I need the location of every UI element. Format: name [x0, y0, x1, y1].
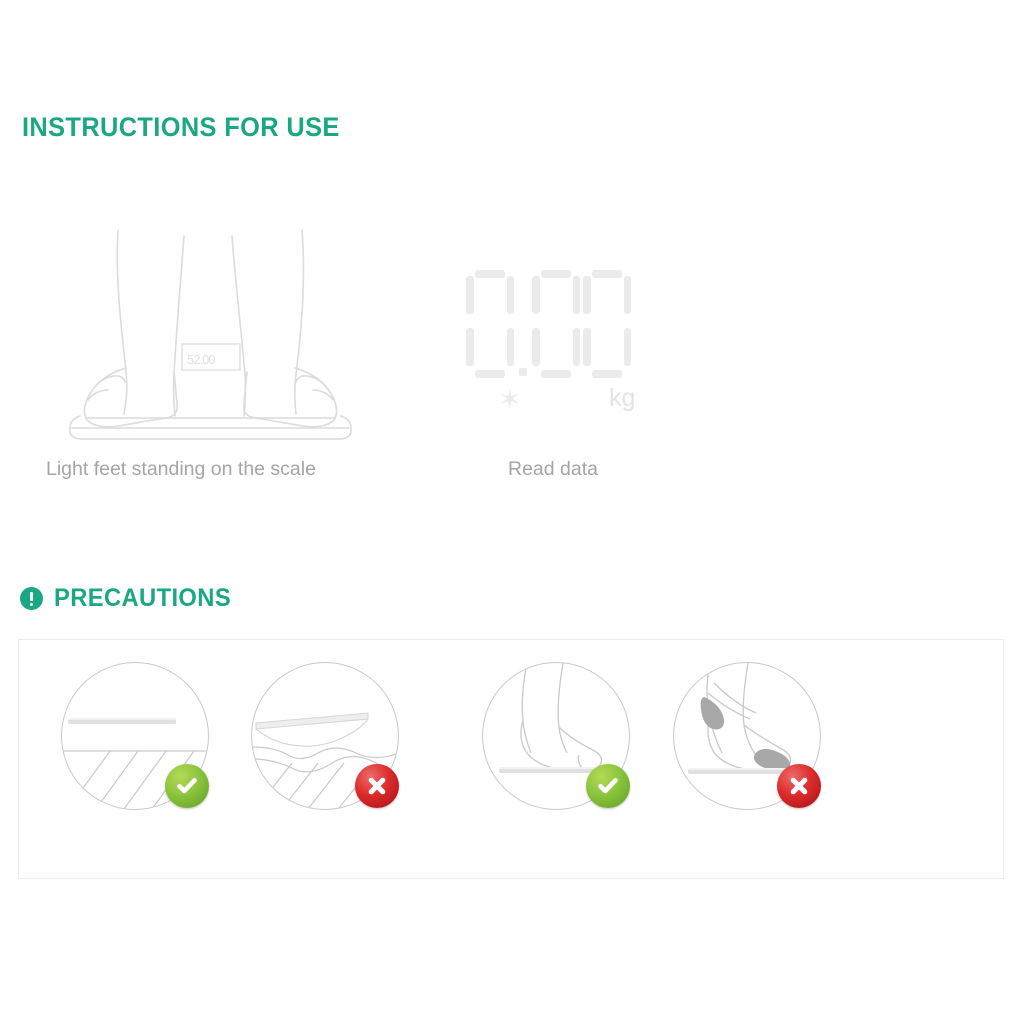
- decimal-point: [519, 368, 527, 376]
- segment-f: [466, 276, 474, 314]
- segment-e: [466, 328, 474, 366]
- segment-d: [475, 370, 505, 378]
- scale-display-value: 52.00: [187, 352, 215, 367]
- segment-e: [583, 328, 591, 366]
- read-data-illustration: ✶ kg: [418, 222, 708, 447]
- cross-icon: [786, 773, 812, 799]
- precautions-heading: PRECAUTIONS: [20, 584, 240, 613]
- seven-segment-readout: ✶ kg: [466, 270, 631, 420]
- readout-digit-2: [532, 270, 580, 378]
- check-icon: [174, 773, 200, 799]
- precautions-grid: [19, 640, 1003, 878]
- precautions-panel: [18, 639, 1004, 879]
- segment-a: [475, 270, 505, 278]
- precaution-item-soft-carpet: [251, 662, 411, 822]
- cross-icon: [364, 773, 390, 799]
- segment-b: [624, 276, 632, 314]
- segment-b: [573, 276, 581, 314]
- instruction-step-1: 52.00 Light feet standing on the scale: [14, 222, 374, 447]
- segment-e: [532, 328, 540, 366]
- segment-f: [583, 276, 591, 314]
- precaution-item-bare-foot: [482, 662, 642, 822]
- feet-on-scale-illustration: 52.00: [14, 222, 374, 447]
- segment-b: [507, 276, 515, 314]
- segment-a: [541, 270, 571, 278]
- check-icon: [595, 773, 621, 799]
- unit-label: kg: [609, 386, 635, 411]
- instruction-step-1-caption: Light feet standing on the scale: [46, 458, 316, 481]
- segment-c: [573, 328, 581, 366]
- instruction-step-2: ✶ kg Read data: [418, 222, 708, 447]
- segment-c: [624, 328, 632, 366]
- status-badge-not-ok: [777, 764, 821, 808]
- segment-c: [507, 328, 515, 366]
- instruction-step-2-caption: Read data: [508, 458, 598, 481]
- segment-d: [592, 370, 622, 378]
- status-badge-ok: [586, 764, 630, 808]
- status-badge-not-ok: [355, 764, 399, 808]
- page-title: INSTRUCTIONS FOR USE: [22, 112, 340, 143]
- exclamation-circle-icon: [20, 587, 43, 610]
- precautions-title: PRECAUTIONS: [54, 584, 231, 613]
- readout-digit-3: [583, 270, 631, 378]
- readout-indicators: ✶ kg: [466, 386, 626, 420]
- segment-d: [541, 370, 571, 378]
- precaution-item-socked-foot: [673, 662, 833, 822]
- readout-digit-1: [466, 270, 514, 378]
- status-badge-ok: [165, 764, 209, 808]
- readout-digits: [466, 270, 631, 378]
- precaution-item-hard-floor: [61, 662, 221, 822]
- segment-a: [592, 270, 622, 278]
- bluetooth-icon: ✶: [499, 386, 521, 412]
- segment-f: [532, 276, 540, 314]
